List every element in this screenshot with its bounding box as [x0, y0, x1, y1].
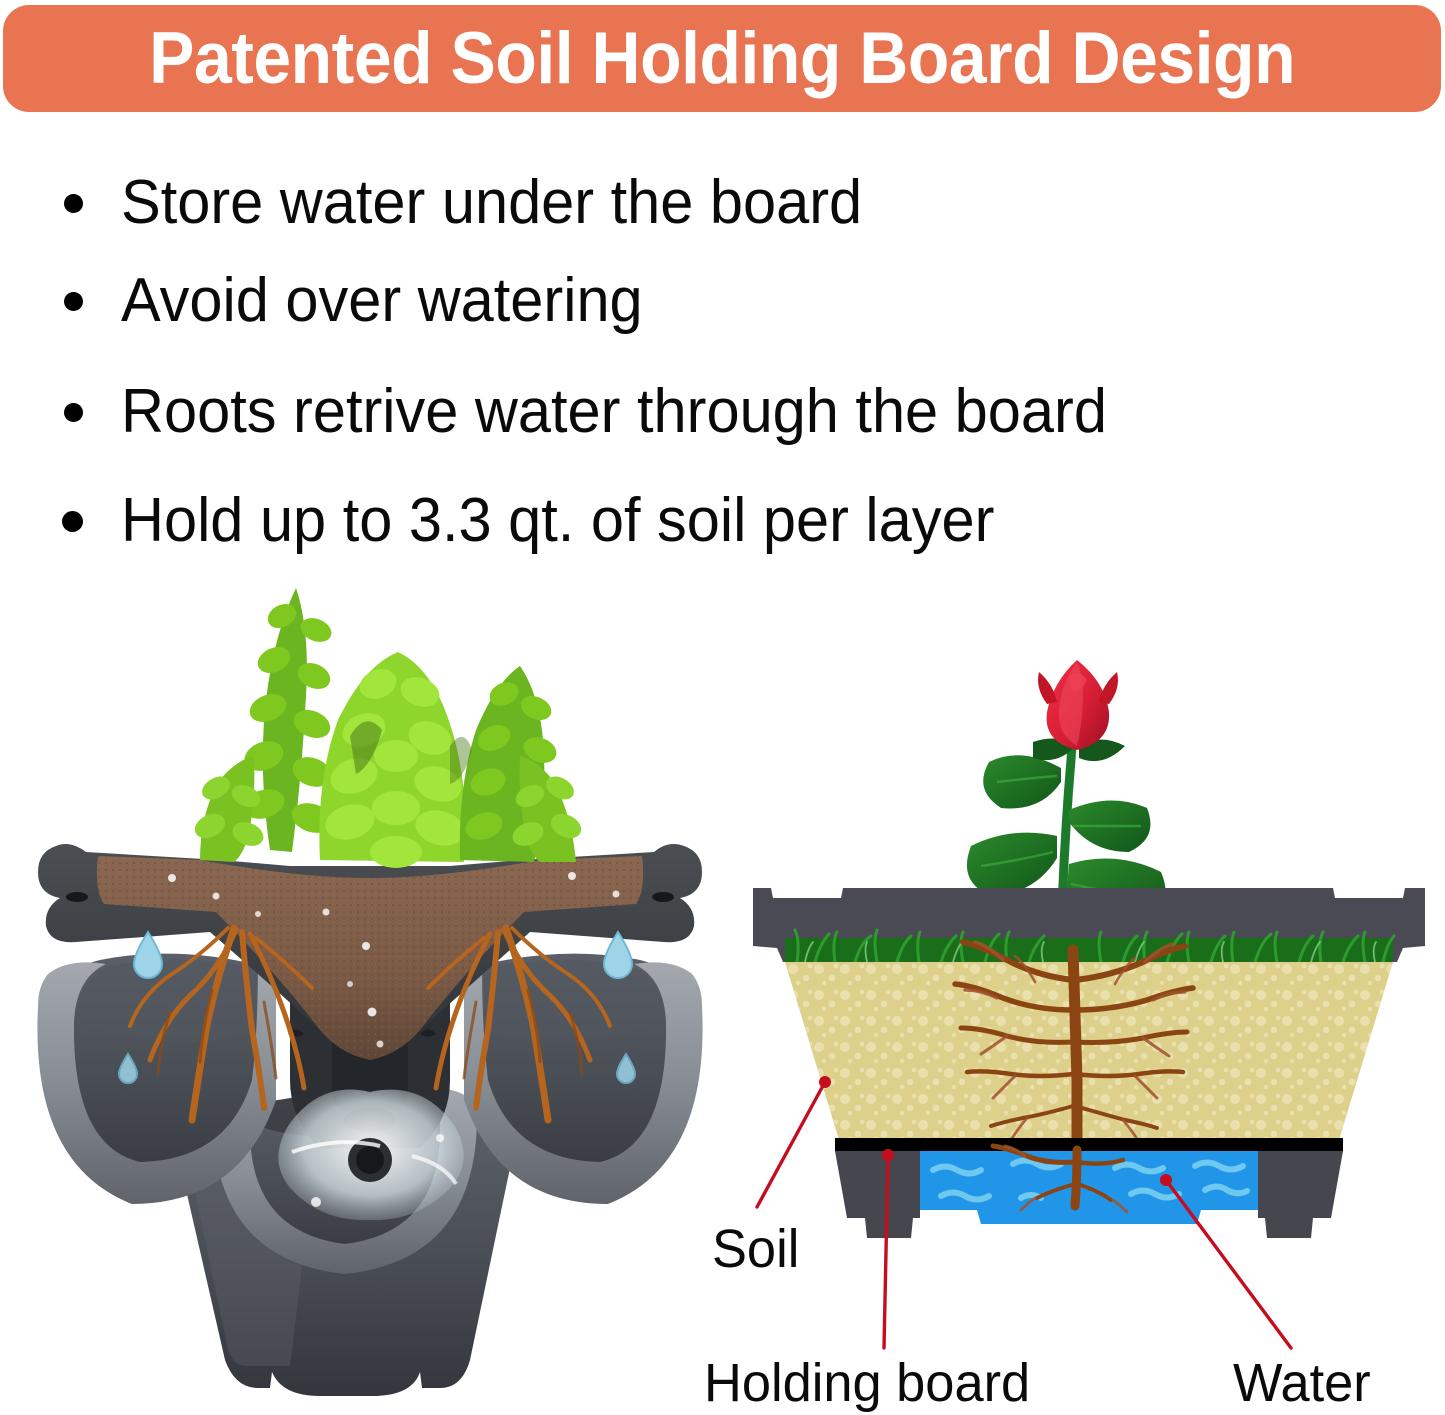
bullet-dot-icon [62, 511, 83, 532]
bullet-label: Hold up to 3.3 qt. of soil per layer [121, 490, 994, 552]
callout-label-soil: Soil [712, 1222, 799, 1276]
rose-leaf [983, 755, 1061, 808]
pot-cross-section-illustration [735, 650, 1445, 1270]
bullet-label: Roots retrive water through the board [121, 381, 1107, 443]
product-photo-planter [20, 560, 720, 1410]
green-plant [191, 588, 585, 868]
planter-illustration [20, 560, 720, 1410]
bullet-dot-icon [64, 403, 83, 422]
bullet-label: Avoid over watering [121, 270, 643, 332]
infographic-root: Patented Soil Holding Board Design Store… [0, 0, 1445, 1415]
cross-section-diagram [735, 650, 1445, 1270]
reservoir-wall-right [1258, 1151, 1343, 1238]
list-item: Hold up to 3.3 qt. of soil per layer [62, 490, 1031, 552]
callout-label-holding-board: Holding board [704, 1356, 1030, 1410]
rose-plant [967, 660, 1166, 926]
list-item: Store water under the board [64, 172, 893, 234]
callout-label-water: Water [1233, 1356, 1371, 1410]
bullet-dot-icon [64, 194, 83, 213]
page-title: Patented Soil Holding Board Design [149, 22, 1295, 95]
reservoir-wall-left [835, 1151, 920, 1238]
rose-leaf [967, 833, 1057, 896]
header-banner: Patented Soil Holding Board Design [3, 5, 1441, 112]
list-item: Avoid over watering [64, 270, 664, 332]
holding-board-line [835, 1138, 1343, 1151]
bullet-dot-icon [64, 292, 83, 311]
bullet-label: Store water under the board [121, 172, 862, 234]
list-item: Roots retrive water through the board [64, 381, 1148, 443]
